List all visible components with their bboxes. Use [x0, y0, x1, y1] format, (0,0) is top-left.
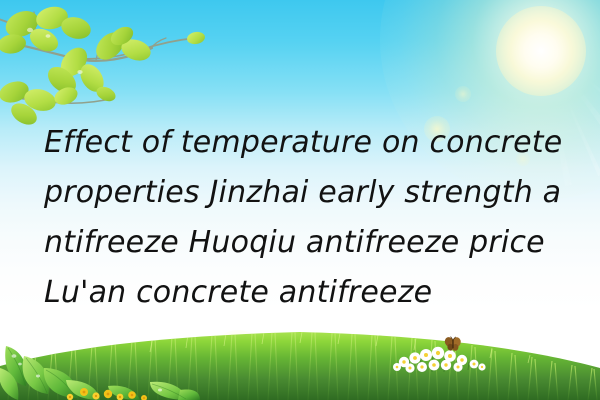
banner-image: Effect of temperature on concrete proper… [0, 0, 600, 400]
foreground-leaf-cluster [0, 342, 200, 400]
butterfly-icon [444, 336, 462, 352]
lens-flare-icon [455, 86, 471, 102]
page-title: Effect of temperature on concrete proper… [44, 118, 568, 318]
sun-core-icon [496, 6, 586, 96]
daisy-cluster-icon [388, 334, 492, 374]
leaf-branch-icon [0, 0, 210, 135]
